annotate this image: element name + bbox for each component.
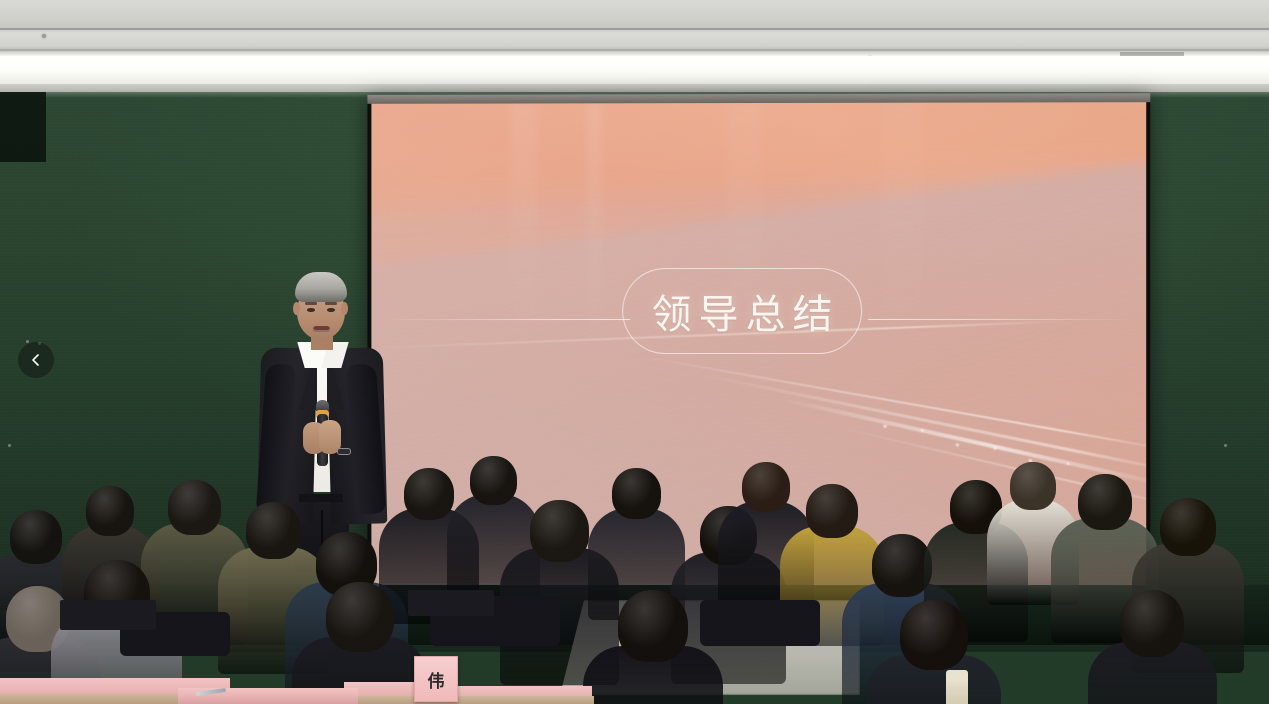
audience-member-head bbox=[1120, 590, 1184, 657]
ceiling bbox=[0, 0, 1269, 96]
speaker-eye-left bbox=[307, 308, 315, 312]
audience-member-head bbox=[168, 480, 221, 535]
audience-member-head bbox=[1160, 498, 1216, 556]
speaker-hair bbox=[295, 272, 347, 302]
speaker-mouth bbox=[313, 326, 330, 332]
slide-rule-right bbox=[868, 319, 1131, 320]
speaker-eyebrow-right bbox=[325, 302, 337, 305]
projector-streak bbox=[510, 103, 536, 353]
laptop bbox=[408, 590, 494, 616]
audience-member bbox=[866, 600, 1001, 704]
speaker-eye-right bbox=[327, 308, 335, 312]
table-top bbox=[344, 696, 594, 704]
speaker-ear-left bbox=[293, 302, 300, 315]
speaker-eyebrow-left bbox=[305, 302, 317, 305]
projector-streak bbox=[882, 103, 922, 354]
water-bottle-cap bbox=[946, 670, 968, 679]
wall-corner-object bbox=[0, 92, 46, 162]
audience-member-head bbox=[900, 600, 968, 670]
audience-member-head bbox=[470, 456, 517, 505]
slide-rule-left bbox=[385, 319, 630, 320]
audience-member-head bbox=[1010, 462, 1056, 510]
laptop bbox=[60, 600, 156, 630]
audience-member bbox=[1088, 590, 1217, 704]
nameplate: 伟 bbox=[414, 656, 458, 702]
audience-member-head bbox=[530, 500, 589, 562]
slide-title-pill: 领导总结 bbox=[622, 268, 862, 354]
audience bbox=[0, 440, 1269, 704]
chevron-left-icon bbox=[29, 353, 43, 367]
ceiling-seam bbox=[0, 49, 1269, 51]
audience-member-head bbox=[326, 582, 394, 652]
previous-button[interactable] bbox=[18, 342, 54, 378]
audience-member-head bbox=[1078, 474, 1132, 530]
projector-streak bbox=[587, 103, 601, 353]
audience-member-head bbox=[612, 468, 661, 519]
audience-member-head bbox=[86, 486, 134, 536]
speaker-ear-right bbox=[341, 302, 348, 315]
audience-member-head bbox=[806, 484, 858, 538]
presentation-photo-frame: 领导总结 bbox=[0, 0, 1269, 704]
audience-member-head bbox=[10, 510, 62, 564]
ceiling-seam bbox=[0, 28, 1269, 30]
slide-title: 领导总结 bbox=[645, 282, 840, 340]
ceiling-light-panel bbox=[0, 56, 1269, 84]
audience-member-head bbox=[618, 590, 688, 662]
ceiling-screw bbox=[42, 34, 46, 38]
chair-back bbox=[700, 600, 820, 646]
